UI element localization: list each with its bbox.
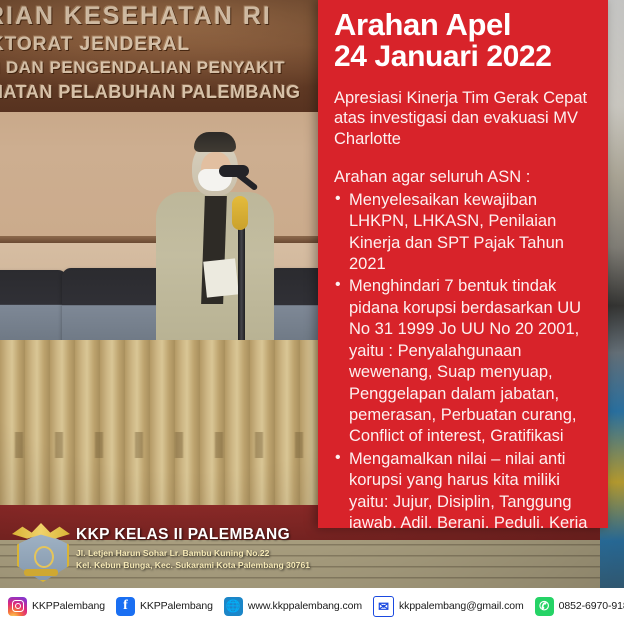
organization-address: Jl. Letjen Harun Sohar Lr. Bambu Kuning … xyxy=(76,547,316,572)
contact-facebook[interactable]: f KKPPalembang xyxy=(116,597,213,616)
organization-name: KKP KELAS II PALEMBANG xyxy=(76,526,316,544)
list-item: Menghindari 7 bentuk tindak pidana korup… xyxy=(334,276,594,448)
photo-speaker-cap xyxy=(194,132,236,152)
list-item: Mengamalkan nilai – nilai anti korupsi y… xyxy=(334,449,594,528)
whatsapp-icon: ✆ xyxy=(535,597,554,616)
address-line-1: Jl. Letjen Harun Sohar Lr. Bambu Kuning … xyxy=(76,548,269,558)
directive-list: Menyelesaikan kewajiban LHKPN, LHKASN, P… xyxy=(334,190,594,528)
photo-chair xyxy=(0,270,67,345)
email-icon: ✉ xyxy=(373,596,394,617)
contact-whatsapp-label: 0852-6970-9180 xyxy=(559,600,624,612)
instagram-icon xyxy=(8,597,27,616)
poster-canvas: RIAN KESEHATAN RI KTORAT JENDERAL N DAN … xyxy=(0,0,624,624)
contact-bar: KKPPalembang f KKPPalembang 🌐 www.kkppal… xyxy=(0,588,624,624)
title-line-1: Arahan Apel xyxy=(334,7,511,42)
lead-paragraph: Apresiasi Kinerja Tim Gerak Cepat atas i… xyxy=(334,88,594,149)
directive-subheading: Arahan agar seluruh ASN : xyxy=(334,167,594,187)
facebook-icon: f xyxy=(116,597,135,616)
contact-whatsapp[interactable]: ✆ 0852-6970-9180 xyxy=(535,597,624,616)
title-line-2: 24 Januari 2022 xyxy=(334,41,594,73)
contact-website[interactable]: 🌐 www.kkppalembang.com xyxy=(224,597,362,616)
list-item: Menyelesaikan kewajiban LHKPN, LHKASN, P… xyxy=(334,190,594,276)
photo-speaker-paper xyxy=(203,258,239,297)
kkp-palembang-logo-icon xyxy=(12,522,70,582)
brand-strip: KKP KELAS II PALEMBANG Jl. Letjen Harun … xyxy=(0,520,318,588)
contact-email[interactable]: ✉ kkppalembang@gmail.com xyxy=(373,596,524,617)
contact-email-label: kkppalembang@gmail.com xyxy=(399,600,524,612)
photo-microphone-grip xyxy=(232,196,248,230)
logo-emblem-shape xyxy=(34,546,54,568)
address-line-2: Kel. Kebun Bunga, Kec. Sukarami Kota Pal… xyxy=(76,560,310,570)
contact-instagram[interactable]: KKPPalembang xyxy=(8,597,105,616)
contact-instagram-label: KKPPalembang xyxy=(32,600,105,612)
content-panel: Arahan Apel 24 Januari 2022 Apresiasi Ki… xyxy=(318,0,608,528)
page-title: Arahan Apel 24 Januari 2022 xyxy=(334,8,594,74)
brand-text-block: KKP KELAS II PALEMBANG Jl. Letjen Harun … xyxy=(76,526,316,572)
logo-ribbon-shape xyxy=(24,569,58,576)
website-icon: 🌐 xyxy=(224,597,243,616)
contact-website-label: www.kkppalembang.com xyxy=(248,600,362,612)
photo-microphone-head xyxy=(219,165,249,177)
contact-facebook-label: KKPPalembang xyxy=(140,600,213,612)
